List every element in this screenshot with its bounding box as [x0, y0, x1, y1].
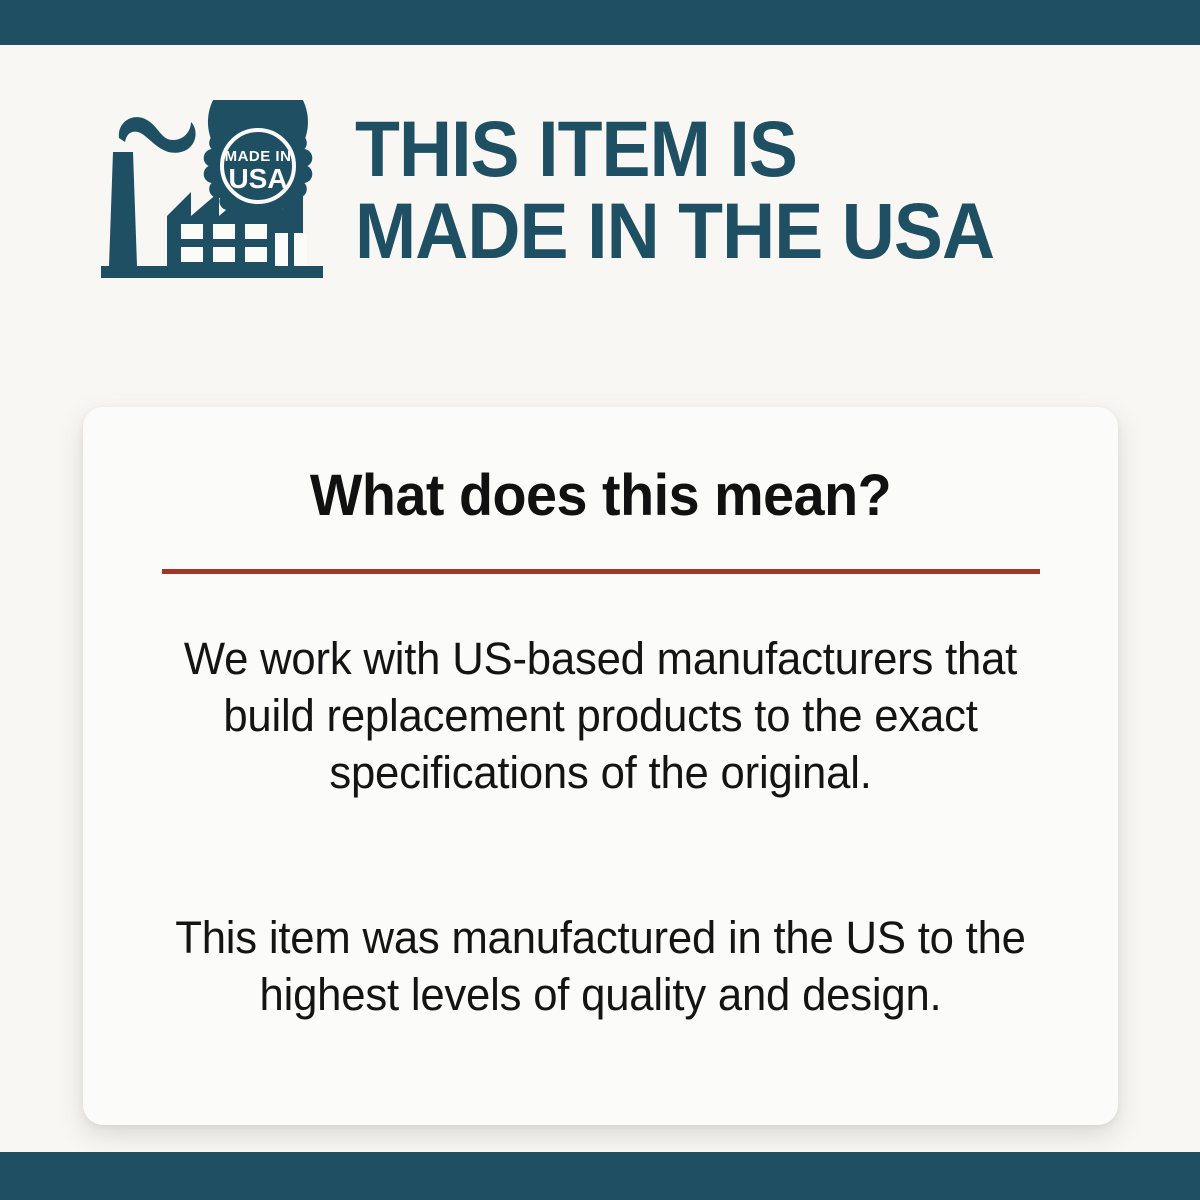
card-body: We work with US-based manufacturers that… — [83, 630, 1118, 1023]
factory-icon: MADE IN USA — [95, 100, 335, 285]
top-accent-bar — [0, 0, 1200, 45]
info-card: What does this mean? We work with US-bas… — [83, 407, 1118, 1125]
page-title: THIS ITEM IS MADE IN THE USA — [355, 100, 1155, 272]
red-divider — [162, 569, 1040, 574]
header: MADE IN USA THIS ITEM IS MADE IN THE USA — [95, 100, 1155, 305]
title-line-1: THIS ITEM IS — [355, 108, 1099, 190]
body-paragraph-2: This item was manufactured in the US to … — [153, 909, 1048, 1023]
bottom-accent-bar — [0, 1152, 1200, 1200]
page-canvas: MADE IN USA THIS ITEM IS MADE IN THE USA… — [0, 45, 1200, 1152]
body-paragraph-1: We work with US-based manufacturers that… — [153, 630, 1048, 801]
badge-line-2: USA — [228, 163, 287, 194]
made-in-usa-badge: MADE IN USA — [204, 100, 313, 221]
card-heading: What does this mean? — [104, 465, 1098, 527]
title-line-2: MADE IN THE USA — [355, 190, 1099, 272]
made-in-usa-logo: MADE IN USA — [95, 100, 335, 285]
